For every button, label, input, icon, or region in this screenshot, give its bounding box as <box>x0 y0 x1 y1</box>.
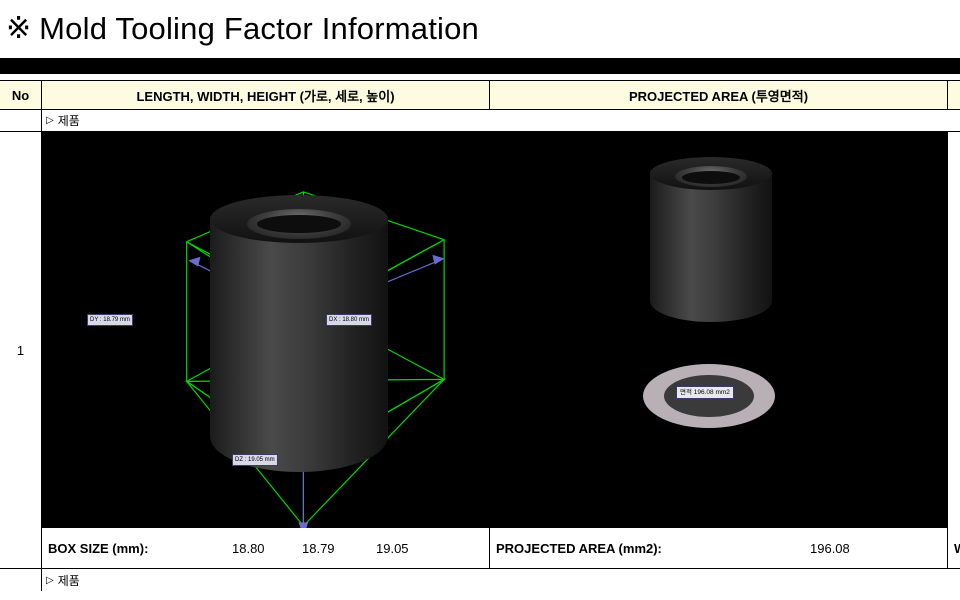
cylinder-body <box>210 217 388 472</box>
group-row-label-text: 제품 <box>58 112 80 129</box>
dim-tag-dz: DZ : 19.05 mm <box>232 454 278 466</box>
projected-area-value: 196.08 <box>810 541 850 556</box>
projected-area-label: PROJECTED AREA (mm2): <box>496 541 662 556</box>
dim-tag-dy: DY : 18.79 mm <box>87 314 133 326</box>
header-cell-weight <box>948 81 960 109</box>
box-size-value-width: 18.79 <box>302 541 335 556</box>
group-row-bottom-no-spacer <box>0 569 42 591</box>
triangle-right-icon-bottom: ▷ <box>46 575 54 586</box>
cell-weight: W <box>948 132 960 568</box>
page-title: ※ Mold Tooling Factor Information <box>0 0 960 58</box>
group-row-label: ▷ 제품 <box>42 112 80 129</box>
box-size-value-height: 19.05 <box>376 541 409 556</box>
box-size-value-length: 18.80 <box>232 541 265 556</box>
group-row-no-spacer <box>0 110 42 131</box>
dim-tag-dx: DX : 18.80 mm <box>326 314 372 326</box>
cylinder-bore-inner <box>257 215 341 233</box>
box-size-label: BOX SIZE (mm): <box>48 541 148 556</box>
product-cylinder-3d <box>210 217 388 472</box>
table-header-row: No LENGTH, WIDTH, HEIGHT (가로, 세로, 높이) PR… <box>0 80 960 110</box>
table-row: 1 <box>0 132 960 569</box>
cell-projected-area: 면적 196.08 mm2 PROJECTED AREA (mm2): 196.… <box>490 132 948 568</box>
weight-label: W <box>954 541 960 556</box>
page-root: ※ Mold Tooling Factor Information No LEN… <box>0 0 960 600</box>
weight-viewport <box>948 132 960 528</box>
group-row-top: ▷ 제품 <box>0 110 960 132</box>
black-bar-top <box>0 58 960 74</box>
projected-cylinder-3d <box>650 172 772 322</box>
group-row-bottom-label-text: 제품 <box>58 572 80 589</box>
header-cell-no: No <box>0 81 42 109</box>
projected-area-scene: 면적 196.08 mm2 <box>490 132 947 528</box>
group-row-bottom-label: ▷ 제품 <box>42 572 80 589</box>
header-cell-projected-area: PROJECTED AREA (투영면적) <box>490 81 948 109</box>
page-title-text: Mold Tooling Factor Information <box>39 11 479 47</box>
projected-area-viewport: 면적 196.08 mm2 <box>490 132 947 528</box>
reference-mark-icon: ※ <box>6 14 31 44</box>
area-tag: 면적 196.08 mm2 <box>676 386 734 399</box>
projected-cylinder-bore-inner <box>682 171 740 184</box>
lwh-3d-viewport: DY : 18.79 mm DX : 18.80 mm DZ : 19.05 m… <box>42 132 489 528</box>
group-row-bottom: ▷ 제품 <box>0 569 960 591</box>
header-cell-lwh: LENGTH, WIDTH, HEIGHT (가로, 세로, 높이) <box>42 81 490 109</box>
lwh-footer: BOX SIZE (mm): 18.80 18.79 19.05 <box>42 528 489 568</box>
projected-cylinder-body <box>650 172 772 322</box>
triangle-right-icon: ▷ <box>46 115 54 126</box>
cell-row-number: 1 <box>0 132 42 568</box>
projected-area-footer: PROJECTED AREA (mm2): 196.08 <box>490 528 947 568</box>
cell-lwh: DY : 18.79 mm DX : 18.80 mm DZ : 19.05 m… <box>42 132 490 568</box>
lwh-scene: DY : 18.79 mm DX : 18.80 mm DZ : 19.05 m… <box>42 132 489 528</box>
weight-footer: W <box>948 528 960 568</box>
